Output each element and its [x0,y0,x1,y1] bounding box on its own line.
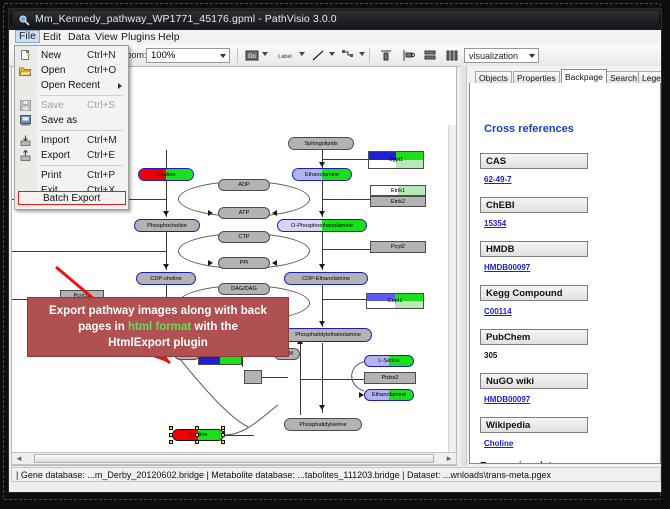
menu-item-save-as[interactable]: Save as [15,114,126,127]
distribute-tool-button[interactable] [445,48,459,63]
node-label: Phosphatidylethanolamine [285,332,371,338]
node-cdp-ethanolamine[interactable]: CDP-Ethanolamine [284,272,368,285]
align-left-tool-button[interactable] [401,48,415,63]
node-ptdss2[interactable]: Ptdss2 [364,372,416,384]
scroll-left-icon[interactable]: ◄ [15,456,23,462]
xref-value-hmdb[interactable]: HMDB00097 [484,263,530,272]
chevron-down-icon-2 [529,54,535,58]
label-tool-button[interactable]: Label [274,48,296,63]
scroll-thumb[interactable] [34,454,434,463]
arrowhead-ppi [208,260,213,266]
visualization-value: visualization [469,51,518,61]
menu-item-accel: Ctrl+N [87,50,116,61]
menu-item-label: Open Recent [41,80,100,91]
anchor-tool-button[interactable] [341,48,355,63]
node-label: Cept1 [367,298,423,304]
node-label: Ethanolamine [365,392,413,398]
screenshot-frame: Mm_Kennedy_pathway_WP1771_45176.gpml - P… [0,0,670,509]
stack-center-tool-button[interactable] [423,48,437,63]
edge-sgpl1 [322,159,368,160]
arrowhead-phosphocholine [163,211,169,216]
svg-text:Label: Label [278,54,291,60]
menu-data[interactable]: Data [64,31,94,44]
arrowhead-cdpetn [319,264,325,269]
line-tool-button[interactable] [311,48,325,63]
selection-handle-e[interactable] [221,433,225,437]
pathvisio-window: Mm_Kennedy_pathway_WP1771_45176.gpml - P… [8,8,662,493]
label-dropdown-icon[interactable] [299,52,305,56]
svg-text:Gn: Gn [248,54,256,60]
selection-handle-w[interactable] [169,433,173,437]
node-atp[interactable]: ATP [218,207,270,219]
xref-source-chebi: ChEBI [480,197,588,213]
cross-references-heading: Cross references [484,123,574,135]
menu-item-label: Print [41,170,62,181]
title-bar: Mm_Kennedy_pathway_WP1771_45176.gpml - P… [9,9,662,31]
node-etnk1[interactable]: Etnk1 [370,185,426,196]
panel-tab-strip: Objects Properties Backpage Search Legen… [469,69,661,83]
xref-source-label: CAS [486,156,506,167]
annotation-text: Export pathway images along with back pa… [43,303,273,351]
menu-item-save: Save Ctrl+S [15,99,126,112]
gene-product-tool-button[interactable]: Gn [245,48,259,63]
pathvisio-app-icon [19,15,30,26]
annotation-line-2a: pages in [78,321,128,333]
node-label: Sphingolipids [289,141,353,147]
side-panel: Objects Properties Backpage Search Legen… [461,66,661,466]
open-folder-icon [19,66,31,76]
menu-item-accel: Ctrl+P [87,170,115,181]
selection-handle-n[interactable] [195,426,199,430]
selection-handle-c[interactable] [195,433,199,437]
anchor-dropdown-icon[interactable] [359,52,365,56]
submenu-arrow-icon [118,83,122,89]
arrowhead-atp [208,210,213,216]
node-choline[interactable]: Choline [138,168,194,181]
node-etnk2[interactable]: Etnk2 [370,196,426,207]
node-label: CTP [219,234,269,240]
menu-file[interactable]: File [15,30,40,43]
xref-source-nugo: NuGO wiki [480,373,588,389]
annotation-highlight: html format [128,321,191,333]
node-o-phosphoethanolamine[interactable]: O-Phosphoethanolamine [277,219,367,232]
align-top-tool-button[interactable] [379,48,393,63]
save-as-icon [20,115,31,126]
xref-value-nugo[interactable]: HMDB00097 [484,395,530,404]
xref-source-hmdb: HMDB [480,241,588,257]
node-label: PPi [219,260,269,266]
new-file-icon [20,50,31,61]
node-label: DAG/DAG [219,286,269,292]
menu-item-open[interactable]: Open Ctrl+O [15,64,126,77]
menu-bar: File Edit Data View Plugins Help [9,30,662,46]
xref-value-wikipedia[interactable]: Choline [484,439,513,448]
zoom-combobox[interactable]: 100% [146,48,230,63]
node-label: L-Serine [365,358,413,364]
edge-left-stub-2 [12,251,166,252]
selection-handle-ne[interactable] [221,426,225,430]
node-dag[interactable]: DAG/DAG [218,283,270,295]
node-l-serine[interactable]: L-Serine [364,355,414,367]
node-label: ADP [219,182,269,188]
node-label: O-Phosphoethanolamine [278,223,366,229]
xref-source-pubchem: PubChem [480,329,588,345]
arrowhead-ptdser [319,405,325,410]
menu-item-accel: Ctrl+E [87,150,115,161]
annotation-line-3: HtmlExport plugin [108,337,208,349]
gene-product-dropdown-icon[interactable] [262,52,268,56]
tab-objects[interactable]: Objects [475,71,512,83]
menu-item-label: Export [41,150,70,161]
node-sphingolipids[interactable]: Sphingolipids [288,137,354,150]
selection-handle-se[interactable] [221,440,225,444]
xref-source-label: PubChem [486,332,530,343]
panel-drag-rail[interactable] [461,66,467,466]
tab-properties[interactable]: Properties [513,71,560,83]
edge-unlabeled [262,377,288,378]
selection-handle-s[interactable] [195,440,199,444]
xref-source-label: HMDB [486,244,515,255]
xref-value-chebi[interactable]: 15354 [484,219,506,228]
canvas-vertical-scrollbar[interactable] [448,125,457,466]
menu-item-new[interactable]: New Ctrl+N [15,49,126,62]
xref-source-label: Kegg Compound [486,288,563,299]
status-bar: | Gene database: ...m_Derby_20120602.bri… [11,467,661,482]
xref-value-kegg[interactable]: C00114 [484,307,512,316]
menu-separator-2 [39,130,123,131]
node-label: Pcyt2 [371,244,425,250]
backpage-content: Cross references CAS 62-49-7 ChEBI 15354… [469,83,661,464]
menu-item-label: Save [41,100,64,111]
arrowhead-ethanolamine [319,162,325,167]
menu-item-open-recent[interactable]: Open Recent [15,79,126,92]
xref-value-cas[interactable]: 62-49-7 [484,175,512,184]
scroll-right-icon[interactable]: ► [445,456,453,462]
node-label: Sgpl1 [369,157,423,163]
menu-item-label: Import [41,135,69,146]
arrowhead-ptdetn [319,321,325,326]
arrowhead-atp-2 [272,210,277,216]
tab-search[interactable]: Search [606,71,641,83]
annotation-line-1: Export pathway images along with back [49,305,267,317]
status-bar-text: | Gene database: ...m_Derby_20120602.bri… [16,470,551,480]
arrowhead-ppi-2 [272,260,277,266]
menu-item-accel: Ctrl+S [87,100,115,111]
unlabeled-node[interactable] [244,370,262,384]
choline-curve [222,403,282,437]
toolbar-separator-2 [237,48,238,63]
node-adp[interactable]: ADP [218,179,270,191]
tab-backpage[interactable]: Backpage [561,69,607,83]
node-cept1[interactable]: Cept1 [366,293,424,309]
menu-item-import[interactable]: Import Ctrl+M [15,134,126,147]
line-dropdown-icon[interactable] [329,52,335,56]
menu-item-accel: Ctrl+O [87,65,116,76]
file-menu-dropdown: New Ctrl+N Open Ctrl+O Open Recent [14,45,129,210]
annotation-callout: Export pathway images along with back pa… [27,297,289,357]
menu-item-export[interactable]: Export Ctrl+E [15,149,126,162]
tab-legend[interactable]: Legend [638,71,662,83]
import-icon [20,135,31,146]
arrowhead-ophospho [319,211,325,216]
edge-pcyt2 [322,249,370,250]
menu-item-print[interactable]: Print Ctrl+P [15,169,126,182]
chevron-down-icon [220,54,226,58]
menu-item-label: Save as [41,115,77,126]
menu-separator-3 [39,165,123,166]
edge-choline-down [166,150,167,170]
menu-item-accel: Ctrl+M [87,135,117,146]
canvas-horizontal-scrollbar[interactable]: ◄ ► [11,452,457,465]
xref-source-wikipedia: Wikipedia [480,417,588,433]
node-label: ATP [219,210,269,216]
save-icon [20,100,31,111]
xref-source-kegg: Kegg Compound [480,285,588,301]
expression-data-heading: Expression data [480,461,557,464]
window-title: Mm_Kennedy_pathway_WP1771_45176.gpml - P… [35,13,337,25]
node-label: Phosphatidylserine [285,422,361,428]
xref-value-pubchem: 305 [484,351,497,360]
menu-item-label: New [41,50,61,61]
zoom-value: 100% [151,50,175,61]
selection-handle-nw[interactable] [169,426,173,430]
node-label: CDP-Ethanolamine [285,276,367,282]
edge-ptdetn-ptdser [322,343,323,413]
node-label: Ethanolamine [293,172,351,178]
node-label: Etnk1 [371,188,425,194]
menu-item-label: Open [41,65,65,76]
xref-source-label: ChEBI [486,200,515,211]
node-sgpl1[interactable]: Sgpl1 [368,151,424,169]
xref-source-label: NuGO wiki [486,376,534,387]
selection-handle-sw[interactable] [169,440,173,444]
node-ppi[interactable]: PPi [218,257,270,269]
edge-cept1 [322,299,366,300]
toolbar-separator-3 [369,48,370,63]
menu-item-batch-export[interactable]: Batch Export [43,193,100,204]
node-ethanolamine-2[interactable]: Ethanolamine [364,389,414,401]
node-phosphatidylserine[interactable]: Phosphatidylserine [284,418,362,431]
node-phosphocholine[interactable]: Phosphocholine [134,219,200,232]
xref-source-cas: CAS [480,153,588,169]
menu-help[interactable]: Help [154,31,184,44]
node-ctp[interactable]: CTP [218,231,270,243]
menu-separator-1 [39,95,123,96]
node-label: Ptdss2 [365,375,415,381]
xref-source-label: Wikipedia [486,420,530,431]
export-icon [20,150,31,161]
node-label: Phosphocholine [135,223,199,229]
node-pcyt2[interactable]: Pcyt2 [370,241,426,253]
annotation-line-2b: with the [191,321,238,333]
node-phosphatidylethanolamine[interactable]: Phosphatidylethanolamine [284,328,372,342]
node-label: Etnk2 [371,199,425,205]
menu-edit[interactable]: Edit [39,31,65,44]
node-label: Choline [139,172,193,178]
node-ethanolamine[interactable]: Ethanolamine [292,168,352,181]
visualization-combobox[interactable]: visualization [464,48,539,63]
edge-etnk [322,199,370,200]
